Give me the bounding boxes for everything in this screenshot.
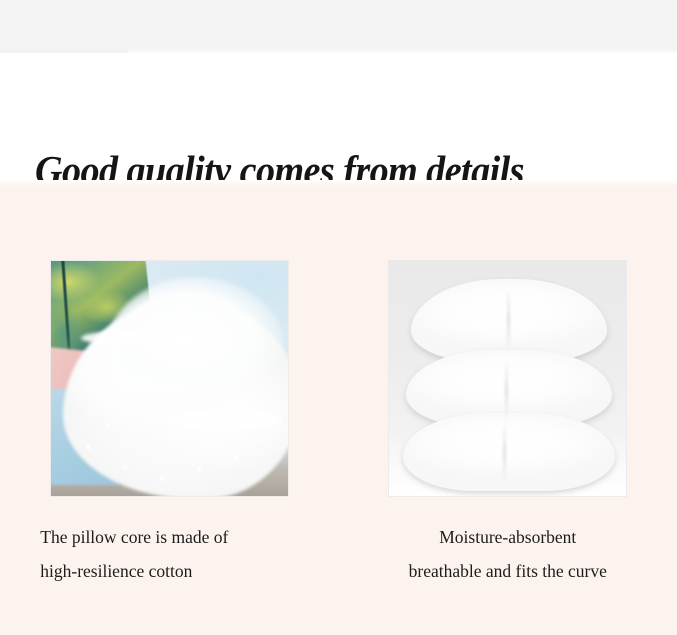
- feature-card: The pillow core is made of high-resilien…: [0, 260, 339, 588]
- heading-band: Good quality comes from details: [0, 54, 677, 185]
- feature-cards: The pillow core is made of high-resilien…: [0, 260, 677, 588]
- pillow-crease: [505, 359, 508, 421]
- top-spacer-strip: [0, 0, 677, 50]
- feature-card: Moisture-absorbent breathable and fits t…: [339, 260, 677, 588]
- cotton-fiber-fuzz: [61, 381, 289, 491]
- features-section: The pillow core is made of high-resilien…: [0, 185, 677, 635]
- feature-caption: Moisture-absorbent breathable and fits t…: [366, 520, 650, 588]
- pillow-crease: [503, 421, 506, 483]
- pillow-stack-image-frame: [388, 260, 627, 497]
- pillow-insert-bottom: [403, 413, 615, 491]
- feature-caption: The pillow core is made of high-resilien…: [38, 520, 300, 588]
- high-resilience-cotton-fill-photo: [51, 261, 288, 496]
- stacked-pillow-inserts-photo: [389, 261, 626, 496]
- cotton-wisp: [171, 411, 281, 429]
- cotton-fill-image-frame: [50, 260, 289, 497]
- top-spacer-strip-fade-left: [0, 50, 128, 53]
- cotton-wisp: [81, 331, 171, 345]
- pillow-crease: [507, 287, 510, 353]
